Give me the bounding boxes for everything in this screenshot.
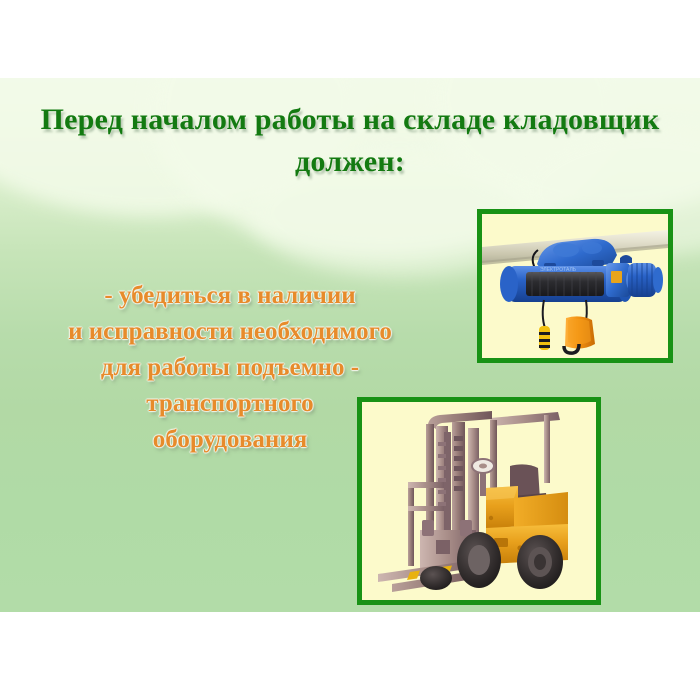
body-text-line-3: для работы подъемно - [10,350,450,386]
svg-text:ЭЛЕКТРОТАЛЬ: ЭЛЕКТРОТАЛЬ [540,267,577,273]
body-text-line-2: и исправности необходимого [10,314,450,350]
slide-title: Перед началом работы на складе кладовщик… [14,99,686,183]
body-text-line-1: - убедиться в наличии [10,278,450,314]
presentation-slide: Перед началом работы на складе кладовщик… [0,78,700,612]
electric-hoist-image: ЭЛЕКТРОТАЛЬ [482,214,668,358]
hoist-image-frame: ЭЛЕКТРОТАЛЬ [477,209,673,363]
slide-title-line-2: должен: [295,145,405,178]
forklift-image-frame [357,397,601,605]
slide-title-line-1: Перед началом работы на складе кладовщик [41,103,660,136]
forklift-truck-image [362,402,596,600]
pendant-control [539,326,550,350]
